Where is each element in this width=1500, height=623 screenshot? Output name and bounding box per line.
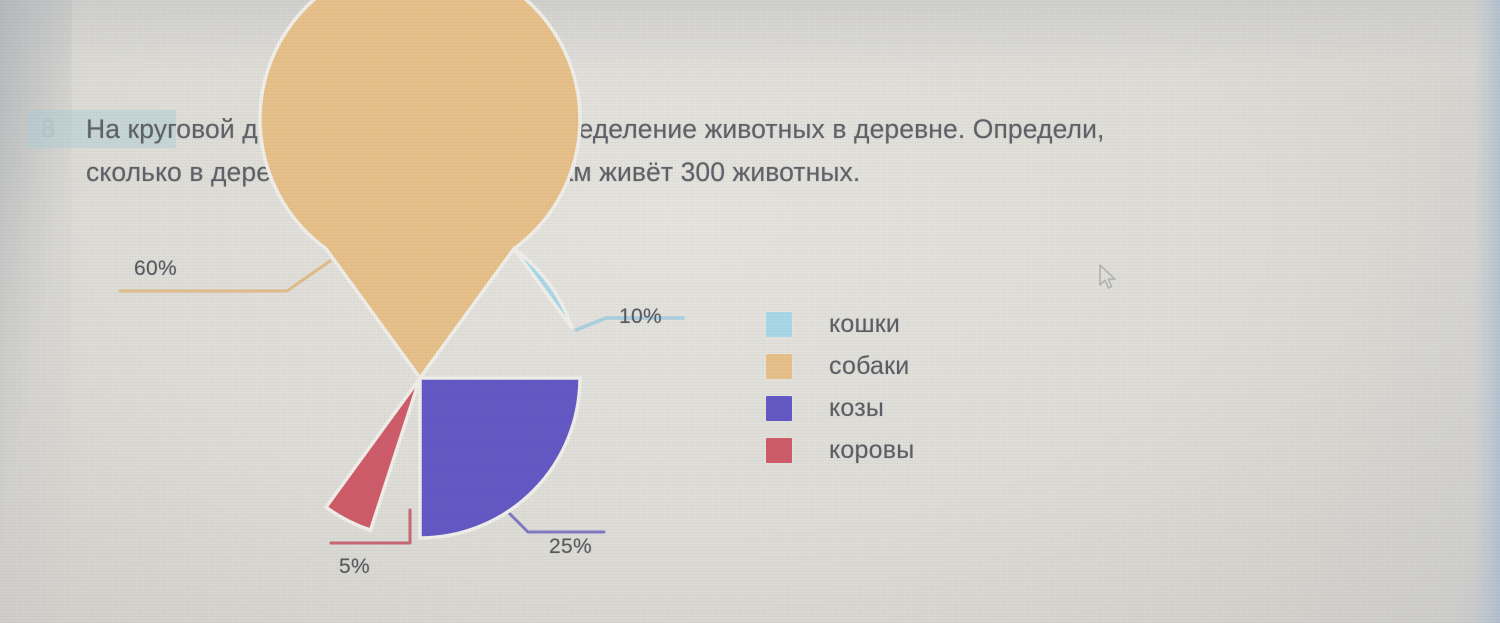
question-number: 8 <box>41 112 55 146</box>
legend-swatch-goats <box>766 396 792 421</box>
chart-legend: кошки собаки козы коровы <box>766 303 914 471</box>
legend-item-goats: козы <box>766 387 914 429</box>
background-top-band <box>0 0 1500 96</box>
legend-label-dogs: собаки <box>829 352 909 381</box>
question-line-2: сколько в деревне собак, если всего там … <box>86 151 1376 194</box>
question-block: На круговой диаграмме показано распредел… <box>86 108 1376 194</box>
legend-item-dogs: собаки <box>766 345 914 387</box>
legend-swatch-cats <box>766 312 792 337</box>
legend-label-cows: коровы <box>829 436 914 465</box>
legend-item-cats: кошки <box>766 303 914 345</box>
legend-label-cats: кошки <box>829 310 900 339</box>
legend-swatch-cows <box>766 438 792 463</box>
legend-swatch-dogs <box>766 354 792 379</box>
screenshot-root: 8 На круговой диаграмме показано распред… <box>0 0 1500 623</box>
background-left-edge <box>0 0 72 623</box>
background-right-edge <box>1474 0 1500 623</box>
question-line-1: На круговой диаграмме показано распредел… <box>86 108 1376 151</box>
legend-item-cows: коровы <box>766 429 914 471</box>
mouse-pointer-icon <box>1098 264 1120 292</box>
legend-label-goats: козы <box>829 394 884 423</box>
